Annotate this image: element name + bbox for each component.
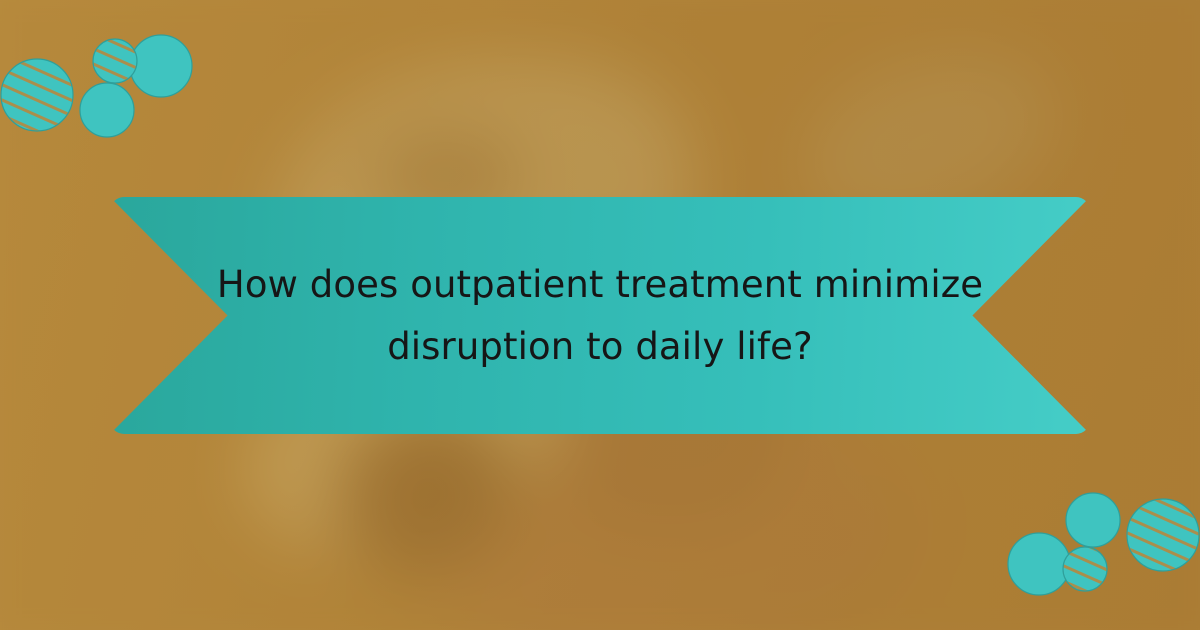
headline: How does outpatient treatment minimize d… [110, 197, 1090, 434]
headline-line-2: disruption to daily life? [387, 318, 813, 376]
headline-line-1: How does outpatient treatment minimize [217, 256, 983, 314]
share-card-canvas: How does outpatient treatment minimize d… [0, 0, 1200, 630]
ribbon-banner: How does outpatient treatment minimize d… [110, 197, 1090, 434]
